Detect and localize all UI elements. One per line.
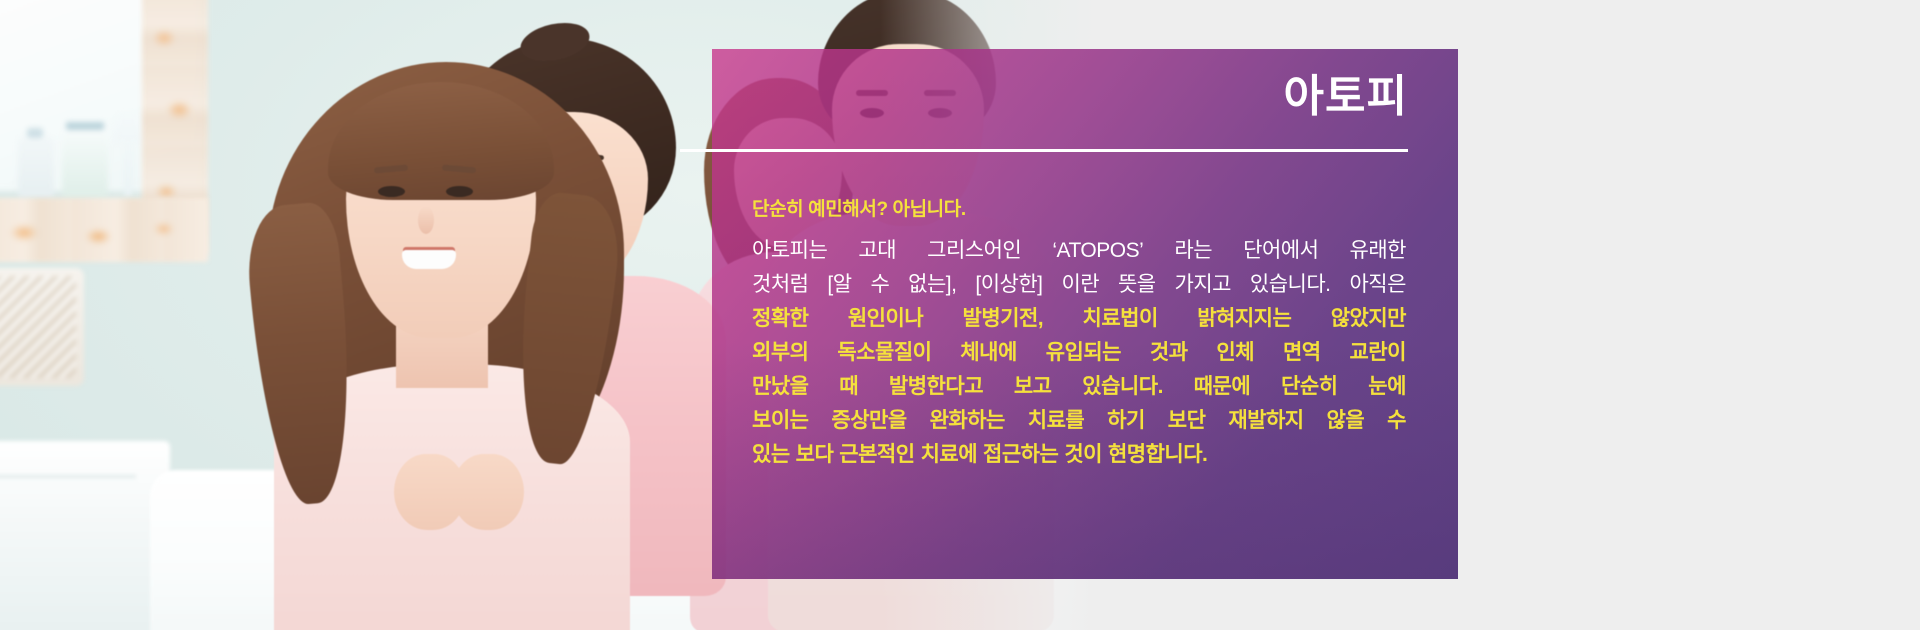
body-line: 만났을때발병한다고보고있습니다.때문에단순히눈에 — [752, 370, 1406, 404]
bottle-icon — [18, 136, 54, 198]
body-word: 있습니다. — [1250, 268, 1331, 302]
shelf-items — [10, 118, 150, 202]
body-word: 때 — [839, 370, 858, 404]
body-word: 재발하지 — [1228, 404, 1303, 438]
body-line-words: 아토피는고대그리스어인‘ATOPOS’라는단어에서유래한 — [752, 234, 1406, 268]
body-word: 라는 — [1174, 234, 1212, 268]
body-word: 단순히 — [1281, 370, 1337, 404]
body-word: 수 — [870, 268, 889, 302]
mother-eye-left — [378, 186, 405, 197]
body-word: 밝혀지지는 — [1197, 302, 1291, 336]
body-line-words: 있는보다근본적인치료에접근하는것이현명합니다. — [752, 438, 1406, 472]
body-word: 인체 — [1216, 336, 1254, 370]
body-line: 아토피는고대그리스어인‘ATOPOS’라는단어에서유래한 — [752, 234, 1406, 268]
body-word: 접근하는 — [983, 438, 1058, 472]
body-word: 단어에서 — [1243, 234, 1318, 268]
basket — [0, 268, 84, 386]
atopy-info-banner: 아토피 단순히 예민해서? 아닙니다. 아토피는고대그리스어인‘ATOPOS’라… — [0, 0, 1920, 630]
body-word: 하기 — [1107, 404, 1145, 438]
body-word: 독소물질이 — [837, 336, 931, 370]
body-word: ‘ATOPOS’ — [1052, 234, 1143, 268]
body-word: 원인이나 — [848, 302, 923, 336]
body-line: 보이는증상만을완화하는치료를하기보단재발하지않을수 — [752, 404, 1406, 438]
subheading: 단순히 예민해서? 아닙니다. — [752, 194, 1406, 221]
body-word: 것처럼 — [752, 268, 808, 302]
body-word: 없는], — [908, 268, 956, 302]
nightstand — [0, 441, 170, 630]
body-word: 않았지만 — [1331, 302, 1406, 336]
mirror-frame-horizontal — [0, 198, 208, 262]
body-word: 뜻을 — [1118, 268, 1156, 302]
body-word: 때문에 — [1194, 370, 1250, 404]
body-word: 치료법이 — [1083, 302, 1158, 336]
body-word: 아직은 — [1349, 268, 1405, 302]
mother-nose — [418, 206, 434, 234]
body-word: 증상만을 — [831, 404, 906, 438]
body-line: 정확한원인이나발병기전,치료법이밝혀지지는않았지만 — [752, 302, 1406, 336]
body-line: 것처럼[알수없는],[이상한]이란뜻을가지고있습니다.아직은 — [752, 268, 1406, 302]
body-line-words: 보이는증상만을완화하는치료를하기보단재발하지않을수 — [752, 404, 1406, 438]
body-line-words: 정확한원인이나발병기전,치료법이밝혀지지는않았지만 — [752, 302, 1406, 336]
body-word: 가지고 — [1175, 268, 1231, 302]
body-line: 있는보다근본적인치료에접근하는것이현명합니다. — [752, 438, 1406, 472]
body-word: 그리스어인 — [927, 234, 1021, 268]
body-word: 완화하는 — [930, 404, 1005, 438]
body-line-words: 것처럼[알수없는],[이상한]이란뜻을가지고있습니다.아직은 — [752, 268, 1406, 302]
mother-eye-right — [446, 186, 473, 197]
body-word: 발병기전, — [963, 302, 1044, 336]
body-word: 만났을 — [752, 370, 808, 404]
body-word: 정확한 — [752, 302, 808, 336]
body-word: 교란이 — [1349, 336, 1405, 370]
body-word: [이상한] — [975, 268, 1042, 302]
body-word: 외부의 — [752, 336, 808, 370]
body-word: 치료를 — [1028, 404, 1084, 438]
title-divider — [680, 149, 1408, 152]
body-word: 아토피는 — [752, 234, 827, 268]
body-word: 유입되는 — [1046, 336, 1121, 370]
body-word: 이란 — [1061, 268, 1099, 302]
body-word: 보이는 — [752, 404, 808, 438]
body-word: 보고 — [1014, 370, 1052, 404]
jar-icon — [62, 128, 108, 198]
body-word: 있는 — [752, 438, 790, 472]
body-word: 현명합니다. — [1108, 438, 1207, 472]
body-word: 수 — [1387, 404, 1406, 438]
info-copy: 단순히 예민해서? 아닙니다. 아토피는고대그리스어인‘ATOPOS’라는단어에… — [752, 194, 1406, 472]
body-word: 눈에 — [1368, 370, 1406, 404]
mother-figure — [250, 54, 720, 630]
body-word: 보단 — [1168, 404, 1206, 438]
mother-hand-right — [452, 454, 524, 530]
body-word: 면역 — [1283, 336, 1321, 370]
body-word: 발병한다고 — [889, 370, 983, 404]
body-word: 근본적인 — [839, 438, 914, 472]
info-panel: 아토피 단순히 예민해서? 아닙니다. 아토피는고대그리스어인‘ATOPOS’라… — [712, 49, 1458, 579]
body-word: 것이 — [1064, 438, 1102, 472]
body-text: 아토피는고대그리스어인‘ATOPOS’라는단어에서유래한것처럼[알수없는],[이… — [752, 234, 1406, 472]
body-word: 보다 — [796, 438, 834, 472]
body-word: 체내에 — [960, 336, 1016, 370]
body-word: [알 — [827, 268, 851, 302]
body-word: 유래한 — [1350, 234, 1406, 268]
body-word: 있습니다. — [1082, 370, 1163, 404]
body-line: 외부의독소물질이체내에유입되는것과인체면역교란이 — [752, 336, 1406, 370]
mother-mouth — [402, 250, 456, 269]
body-word: 것과 — [1150, 336, 1188, 370]
body-word: 않을 — [1327, 404, 1365, 438]
page-title: 아토피 — [1284, 75, 1408, 119]
body-line-words: 만났을때발병한다고보고있습니다.때문에단순히눈에 — [752, 370, 1406, 404]
body-line-words: 외부의독소물질이체내에유입되는것과인체면역교란이 — [752, 336, 1406, 370]
body-word: 고대 — [858, 234, 896, 268]
body-word: 치료에 — [921, 438, 977, 472]
